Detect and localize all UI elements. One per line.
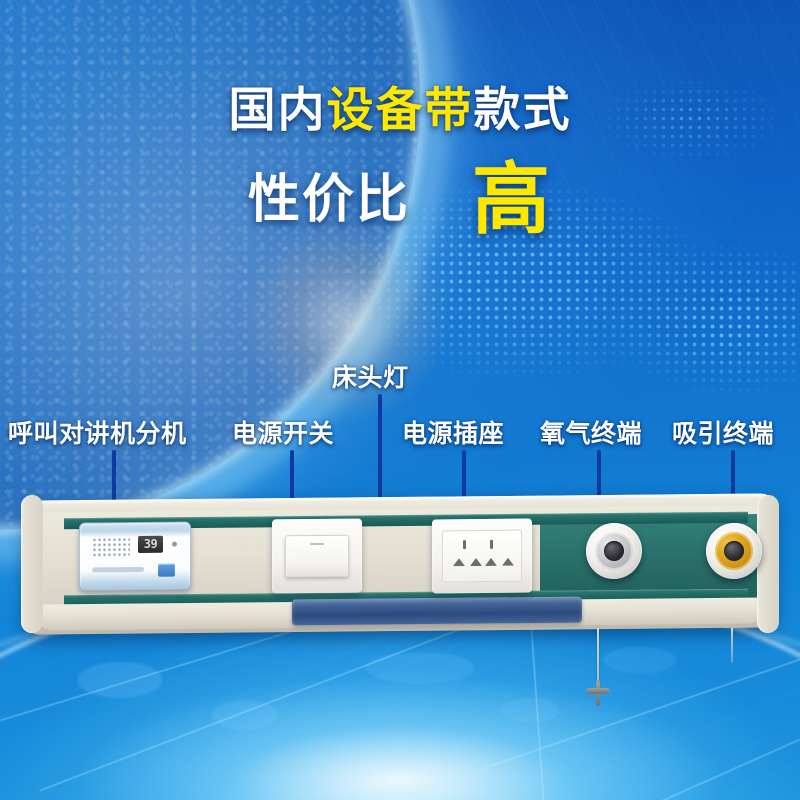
headline-block: 国内设备带款式 性价比高 (0, 86, 800, 238)
callout-label: 氧气终端 (540, 420, 642, 448)
suction-hose-cord (731, 628, 733, 662)
socket-blade-hole (470, 558, 482, 566)
headline-line-1: 国内设备带款式 (0, 86, 800, 133)
callout-label: 电源开关 (232, 420, 334, 448)
callout-label: 吸引终端 (672, 420, 774, 448)
callout-power-switch: 电源开关 (232, 414, 334, 450)
bed-head-unit-panel: 39 (24, 497, 776, 631)
socket-blade-hole (453, 558, 465, 566)
callout-label: 电源插座 (402, 420, 504, 448)
callout-label: 呼叫对讲机分机 (8, 420, 187, 448)
pull-fitting-arm (586, 688, 610, 694)
switch-rocker[interactable] (285, 535, 349, 578)
callout-nurse-call-intercom: 呼叫对讲机分机 (8, 414, 187, 450)
socket-pin-hole (463, 540, 466, 549)
intercom-vent-slot (92, 567, 144, 572)
callout-bedside-lamp: 床头灯 (332, 358, 409, 394)
callout-power-socket: 电源插座 (402, 414, 504, 450)
callout-label: 床头灯 (332, 364, 409, 392)
socket-blade-hole (485, 558, 497, 566)
headline-line1-part1: 国内 (229, 83, 327, 136)
callout-suction-terminal: 吸引终端 (672, 414, 774, 450)
switch-mark-icon (310, 543, 324, 545)
headline-line-2: 性价比高 (0, 160, 800, 238)
speaker-grille-icon (92, 537, 130, 557)
indicator-led-icon (172, 542, 177, 547)
panel-end-cap-right (757, 495, 779, 633)
cord-pull-fitting-icon (586, 680, 610, 706)
promo-banner: 国内设备带款式 性价比高 呼叫对讲机分机 电源开关 床头灯 电源插座 氧气终端 … (0, 0, 800, 800)
headline-line2-text: 性价比 (248, 171, 410, 229)
power-socket-unit[interactable] (432, 519, 532, 594)
headline-line1-part2: 款式 (474, 83, 572, 136)
suction-terminal-ring (715, 532, 753, 570)
headline-line2-big: 高 (472, 155, 552, 243)
intercom-call-button[interactable] (158, 564, 175, 577)
nurse-call-intercom-unit[interactable]: 39 (79, 521, 191, 590)
headline-line1-highlight: 设备带 (327, 83, 474, 136)
socket-blade-hole (502, 558, 514, 566)
oxygen-terminal-bore (604, 541, 624, 561)
oxygen-terminal-outlet[interactable] (586, 523, 642, 580)
oxygen-terminal-ring (595, 532, 633, 570)
panel-end-cap-left (21, 495, 43, 633)
socket-face[interactable] (442, 530, 522, 583)
suction-terminal-bore (724, 541, 744, 561)
socket-pin-hole (490, 540, 493, 549)
intercom-display: 39 (138, 536, 163, 553)
bedside-lamp-diffuser[interactable] (292, 597, 582, 626)
callout-oxygen-terminal: 氧气终端 (540, 414, 642, 450)
power-switch-unit[interactable] (272, 519, 362, 594)
suction-terminal-outlet[interactable] (706, 523, 762, 580)
